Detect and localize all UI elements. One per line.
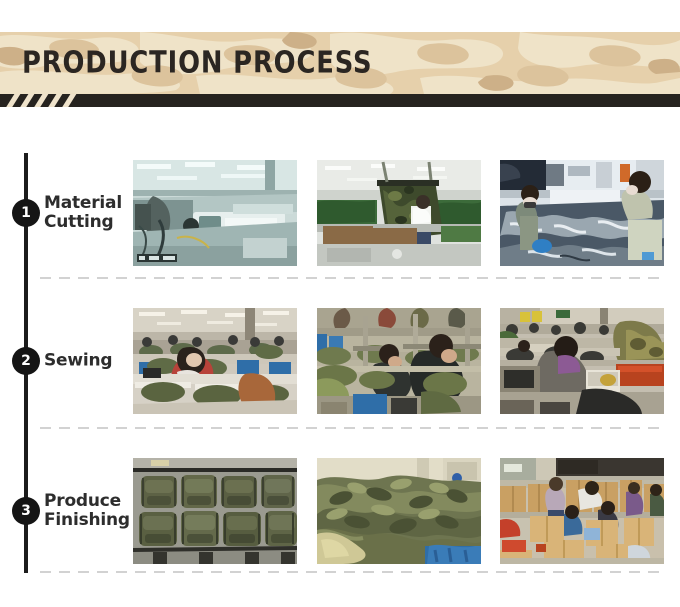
step-label-line1: Produce [44,492,128,511]
step-number-badge: 2 [12,347,40,375]
photo-packing-boxes[interactable] [500,458,664,564]
step-label-line2: Cutting [44,213,128,232]
photo-sewing-stations[interactable] [317,308,481,414]
row-separator [40,571,664,573]
step-label: Sewing [44,351,128,370]
process-step-row: 2 Sewing [0,300,680,422]
process-step-row: 3 Produce Finishing [0,450,680,572]
photo-fabric-cutting[interactable] [500,160,664,266]
step-number-badge: 3 [12,497,40,525]
photo-sewing-line[interactable] [500,308,664,414]
step-label: Material Cutting [44,194,128,232]
photo-finished-backpacks[interactable] [133,458,297,564]
page-title: PRODUCTION PROCESS [22,46,372,81]
process-step-row: 1 Material Cutting [0,152,680,274]
page-header-banner: PRODUCTION PROCESS [0,32,680,94]
photo-fabric-inspection[interactable] [317,160,481,266]
step-label: Produce Finishing [44,492,128,530]
photo-weaving-loom[interactable] [133,160,297,266]
photo-bulk-stock[interactable] [317,458,481,564]
step-number-badge: 1 [12,199,40,227]
photo-sewing-floor[interactable] [133,308,297,414]
row-separator [40,427,664,429]
step-label-line1: Sewing [44,351,128,370]
step-label-line2: Finishing [44,511,128,530]
row-separator [40,277,664,279]
header-accent-stripe [0,94,680,107]
step-label-line1: Material [44,194,128,213]
